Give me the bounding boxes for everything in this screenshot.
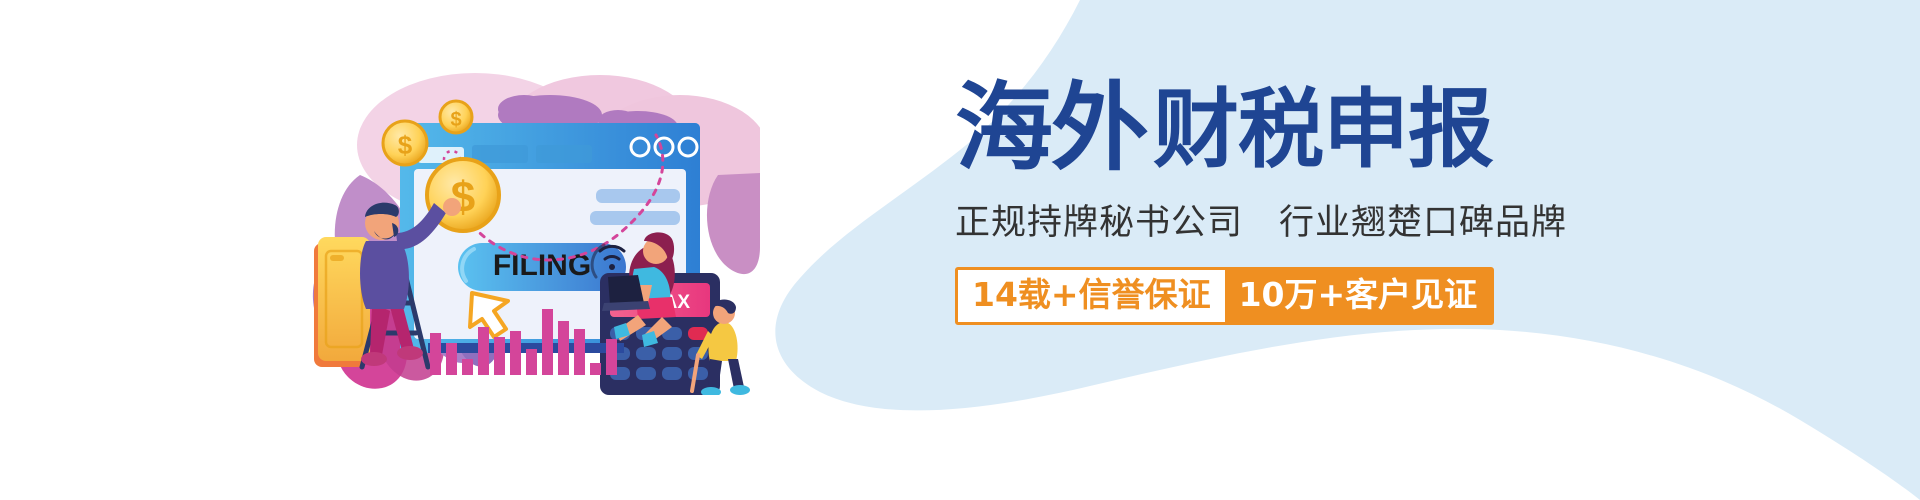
illustration-svg: FILING $ $ $ [300, 55, 760, 395]
headline-part-regular: 财税申报 [1153, 87, 1493, 176]
headline-part-bold: 海外 [955, 80, 1147, 176]
subtitle: 正规持牌秘书公司 行业翘楚口碑品牌 [955, 194, 1715, 245]
promo-text-block: 海外 财税申报 正规持牌秘书公司 行业翘楚口碑品牌 14载+信誉保证 10万+客… [955, 68, 1715, 358]
tax-filing-illustration: FILING $ $ $ [300, 55, 760, 395]
svg-text:$: $ [398, 130, 413, 160]
svg-text:$: $ [450, 109, 461, 131]
page-title: 海外 财税申报 [955, 68, 1715, 176]
filing-button-label: FILING [493, 249, 591, 282]
status-badge-clients: 10万+客户见证 [1225, 270, 1492, 322]
promo-banner: FILING $ $ $ [0, 0, 1920, 500]
badge-group: 14载+信誉保证 10万+客户见证 [955, 267, 1494, 325]
status-badge-years: 14载+信誉保证 [958, 270, 1225, 322]
